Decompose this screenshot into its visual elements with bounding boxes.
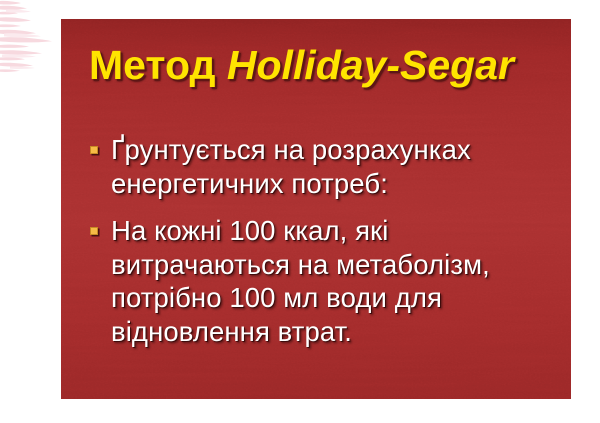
list-item-label: Ґрунтується на розрахунках енергетичних … [111, 133, 557, 200]
list-item-label: На кожні 100 ккал, які витрачаються на м… [111, 214, 557, 348]
title-regular-text: Метод [89, 42, 227, 88]
pink-brush-decoration [0, 0, 62, 76]
square-bullet-icon [90, 146, 98, 154]
title-italic-text: Holliday-Segar [227, 42, 514, 88]
bullet-list: Ґрунтується на розрахунках енергетичних … [87, 133, 557, 362]
slide-screenshot: { "slide": { "title": { "regular_part": … [0, 0, 600, 423]
list-item: Ґрунтується на розрахунках енергетичних … [87, 133, 557, 200]
page-title: Метод Holliday-Segar [89, 42, 549, 88]
list-item: На кожні 100 ккал, які витрачаються на м… [87, 214, 557, 348]
square-bullet-icon [90, 227, 98, 235]
slide-panel: Метод Holliday-Segar Ґрунтується на розр… [61, 19, 571, 399]
